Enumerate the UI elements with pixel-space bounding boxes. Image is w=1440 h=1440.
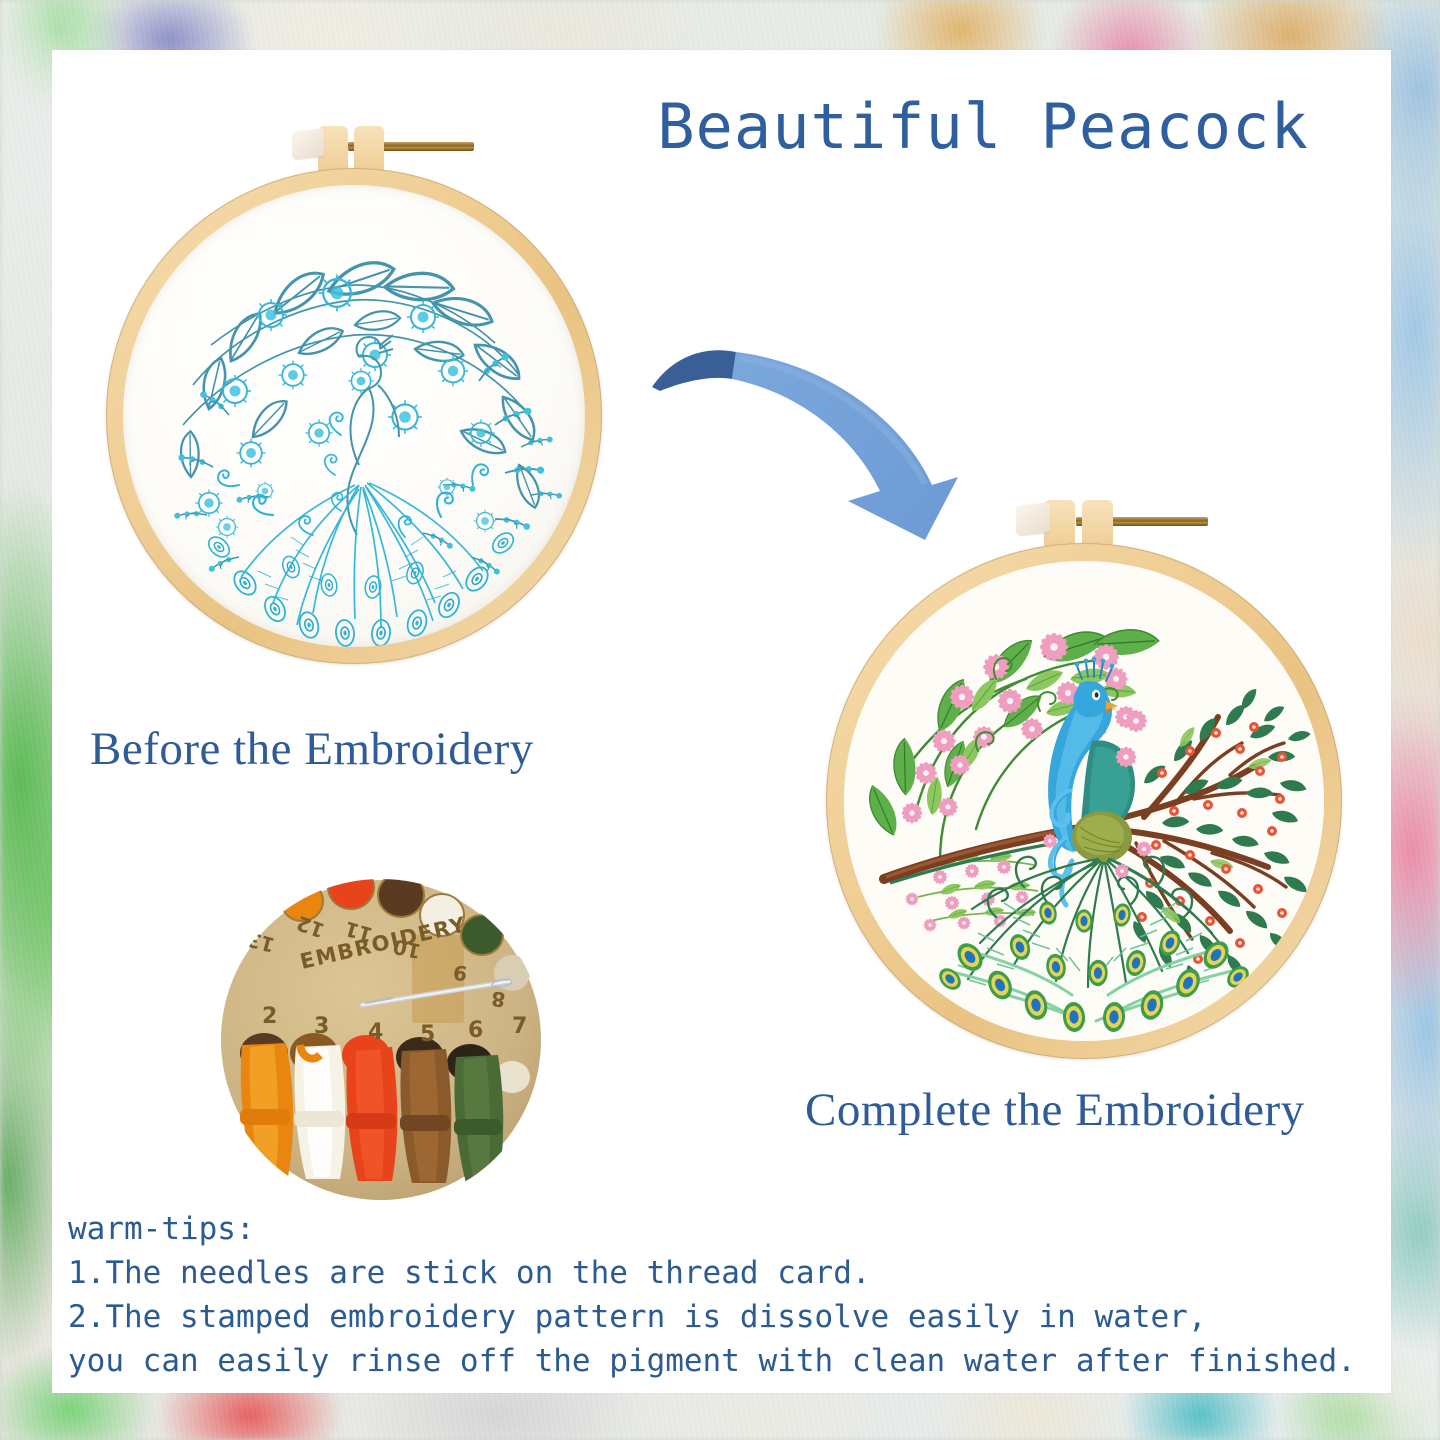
svg-text:4: 4 [368,1020,383,1045]
stamped-peacock-pattern [123,185,585,647]
hoop-tab-icon [354,126,384,174]
svg-text:6: 6 [468,1018,483,1043]
svg-text:2: 2 [262,1004,277,1029]
warm-tips-line-1: 1.The needles are stick on the thread ca… [68,1251,1356,1295]
warm-tips-line-2: 2.The stamped embroidery pattern is diss… [68,1295,1356,1339]
warm-tips-block: warm-tips: 1.The needles are stick on th… [68,1207,1356,1383]
hoop-before-embroidery [106,168,602,664]
warm-tips-heading: warm-tips: [68,1207,1356,1251]
hoop-hardware-complete [1022,498,1212,550]
curved-process-arrow [640,335,1000,540]
hoop-fabric [844,561,1324,1041]
caption-complete-embroidery: Complete the Embroidery [805,1083,1305,1137]
page-title: Beautiful Peacock [613,96,1353,158]
caption-before-embroidery: Before the Embroidery [90,722,534,776]
svg-text:7: 7 [512,1014,527,1039]
svg-text:5: 5 [420,1022,435,1047]
hoop-complete-embroidery [826,543,1342,1059]
finished-peacock-embroidery [844,561,1324,1041]
warm-tips-line-3: you can easily rinse off the pigment wit… [68,1339,1356,1383]
hoop-hardware-before [296,124,476,174]
thread-card-photo: EMBROIDERY 13 12 11 10 9 8 2 3 4 5 6 [216,877,546,1207]
svg-text:3: 3 [314,1014,329,1039]
hoop-knob-icon [1016,502,1050,536]
svg-text:8: 8 [490,987,506,1012]
product-infographic: Beautiful Peacock [0,0,1440,1440]
hoop-fabric [123,185,585,647]
hoop-knob-icon [292,128,324,159]
